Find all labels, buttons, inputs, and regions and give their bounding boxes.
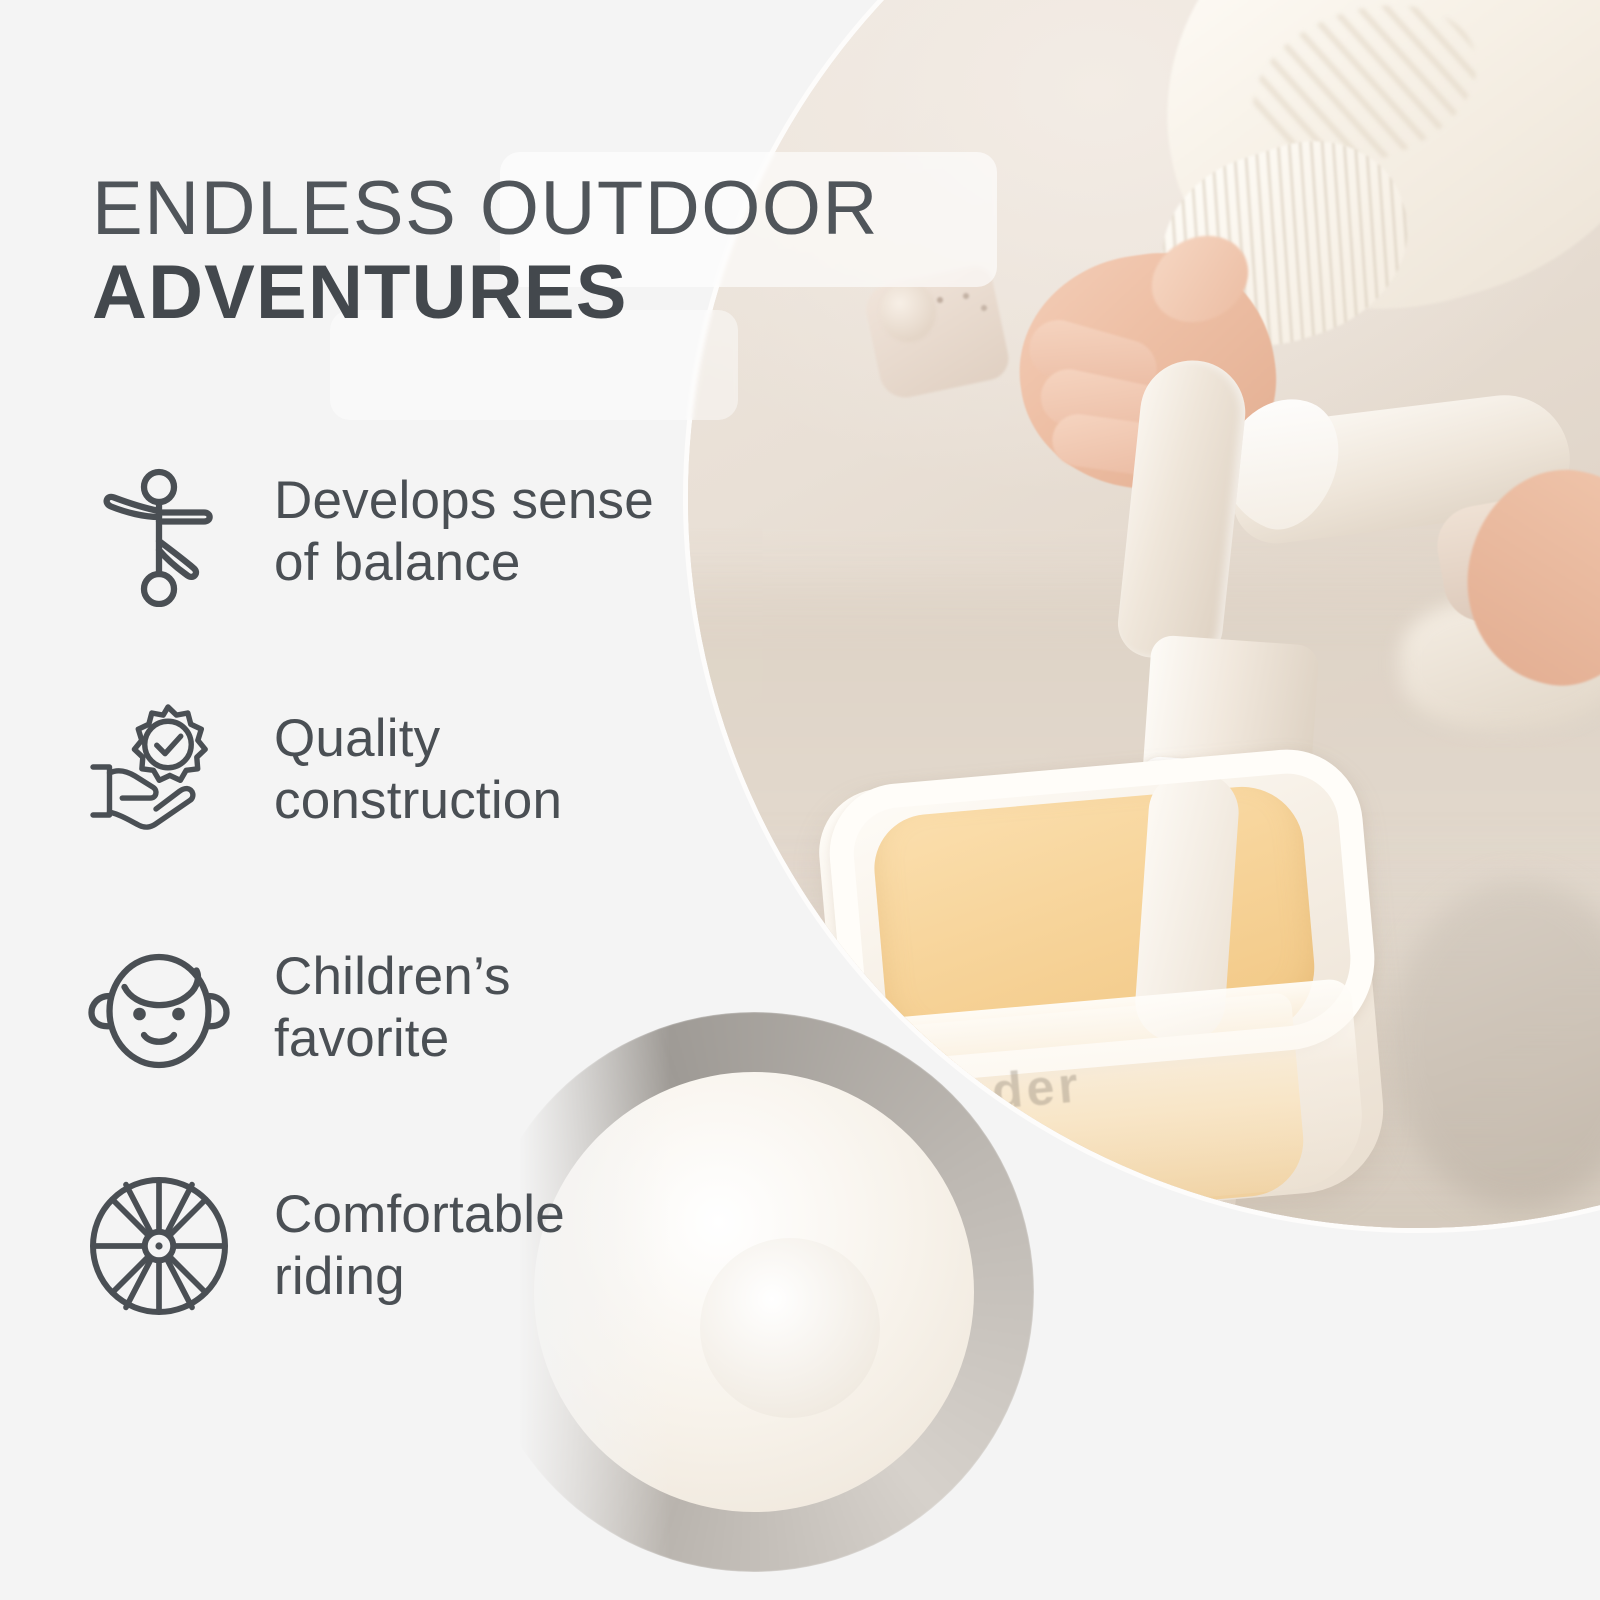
grip-texture-dots — [928, 290, 1000, 332]
wagon-wheel-icon — [84, 1171, 234, 1321]
page-title: ENDLESS OUTDOOR ADVENTURES — [92, 168, 732, 336]
feature-label: Develops sense of balance — [274, 470, 654, 594]
feature-item-balance: Develops sense of balance — [84, 452, 744, 612]
feature-label-line-2: of balance — [274, 532, 654, 594]
feature-label-line-2: favorite — [274, 1008, 511, 1070]
feature-label: Comfortable riding — [274, 1184, 565, 1308]
balance-person-icon — [84, 457, 234, 607]
baby-face-icon — [84, 933, 234, 1083]
feature-label-line-1: Comfortable — [274, 1184, 565, 1246]
content-column: ENDLESS OUTDOOR ADVENTURES Deve — [0, 0, 760, 1600]
feature-label: Quality construction — [274, 708, 562, 832]
background-wheel — [1390, 880, 1600, 1210]
feature-label-line-2: riding — [274, 1246, 565, 1308]
feature-list: Develops sense of balance — [84, 452, 744, 1326]
feature-label: Children’s favorite — [274, 946, 511, 1070]
headline-line-1: ENDLESS OUTDOOR — [92, 168, 732, 250]
feature-label-line-2: construction — [274, 770, 562, 832]
feature-item-children-favorite: Children’s favorite — [84, 928, 744, 1088]
feature-label-line-1: Quality — [274, 708, 562, 770]
product-feature-banner: kinder ENDLESS OUTDOOR ADVENTURES — [0, 0, 1600, 1600]
feature-label-line-1: Children’s — [274, 946, 511, 1008]
feature-item-comfortable-riding: Comfortable riding — [84, 1166, 744, 1326]
feature-item-quality: Quality construction — [84, 690, 744, 850]
quality-badge-hand-icon — [84, 695, 234, 845]
headline-line-2: ADVENTURES — [92, 250, 732, 336]
feature-label-line-1: Develops sense — [274, 470, 654, 532]
